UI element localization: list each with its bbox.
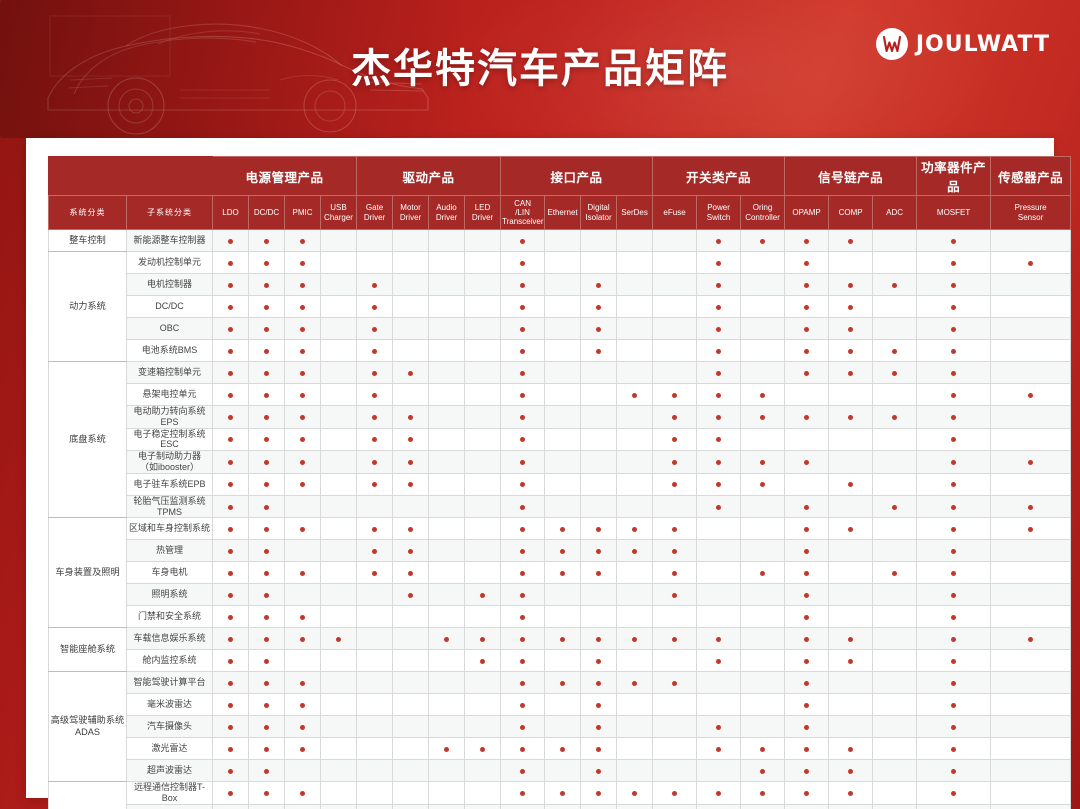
filled-red-dot-icon (300, 791, 305, 796)
matrix-cell-filled (697, 252, 741, 274)
table-row: 超声波雷达 (49, 760, 1071, 782)
filled-red-dot-icon (560, 637, 565, 642)
matrix-cell-empty (829, 562, 873, 584)
matrix-cell-empty (429, 540, 465, 562)
filled-red-dot-icon (228, 527, 233, 532)
matrix-cell-filled (829, 318, 873, 340)
matrix-cell-filled (741, 451, 785, 474)
filled-red-dot-icon (848, 482, 853, 487)
filled-red-dot-icon (300, 482, 305, 487)
matrix-cell-filled (285, 738, 321, 760)
filled-red-dot-icon (520, 349, 525, 354)
filled-red-dot-icon (1028, 460, 1033, 465)
matrix-cell-empty (991, 716, 1071, 738)
matrix-cell-filled (785, 584, 829, 606)
matrix-cell-empty (321, 650, 357, 672)
filled-red-dot-icon (264, 725, 269, 730)
matrix-cell-filled (785, 782, 829, 805)
filled-red-dot-icon (228, 681, 233, 686)
matrix-cell-filled (581, 274, 617, 296)
matrix-cell-filled (829, 406, 873, 429)
matrix-cell-filled (741, 782, 785, 805)
filled-red-dot-icon (951, 415, 956, 420)
filled-red-dot-icon (372, 437, 377, 442)
filled-red-dot-icon (672, 527, 677, 532)
matrix-cell-empty (617, 340, 653, 362)
matrix-cell-empty (873, 230, 917, 252)
matrix-cell-filled (285, 451, 321, 474)
matrix-cell-filled (545, 804, 581, 809)
matrix-cell-filled (249, 540, 285, 562)
matrix-cell-filled (285, 672, 321, 694)
matrix-cell-filled (249, 716, 285, 738)
matrix-cell-filled (285, 562, 321, 584)
filled-red-dot-icon (672, 415, 677, 420)
matrix-cell-empty (545, 606, 581, 628)
matrix-cell-empty (741, 340, 785, 362)
matrix-cell-filled (829, 362, 873, 384)
matrix-cell-filled (785, 296, 829, 318)
matrix-cell-filled (249, 451, 285, 474)
matrix-cell-filled (581, 672, 617, 694)
matrix-cell-empty (321, 473, 357, 495)
matrix-cell-empty (873, 296, 917, 318)
matrix-cell-filled (429, 738, 465, 760)
group-header-4: 开关类产品 (653, 157, 785, 196)
matrix-cell-filled (285, 782, 321, 805)
filled-red-dot-icon (716, 791, 721, 796)
filled-red-dot-icon (480, 593, 485, 598)
matrix-cell-filled (285, 252, 321, 274)
matrix-cell-filled (785, 518, 829, 540)
matrix-cell-empty (653, 804, 697, 809)
matrix-cell-filled (429, 628, 465, 650)
matrix-cell-empty (741, 318, 785, 340)
matrix-cell-empty (465, 606, 501, 628)
matrix-cell-empty (429, 804, 465, 809)
filled-red-dot-icon (264, 791, 269, 796)
table-row: 电子制动助力器（如ibooster） (49, 451, 1071, 474)
matrix-cell-empty (545, 274, 581, 296)
filled-red-dot-icon (300, 460, 305, 465)
matrix-cell-empty (429, 384, 465, 406)
filled-red-dot-icon (632, 393, 637, 398)
filled-red-dot-icon (300, 747, 305, 752)
column-header-6: MotorDriver (393, 196, 429, 230)
matrix-cell-empty (465, 760, 501, 782)
matrix-cell-filled (873, 406, 917, 429)
filled-red-dot-icon (408, 371, 413, 376)
matrix-cell-filled (697, 782, 741, 805)
matrix-cell-empty (429, 694, 465, 716)
matrix-cell-empty (321, 562, 357, 584)
filled-red-dot-icon (1028, 393, 1033, 398)
filled-red-dot-icon (716, 505, 721, 510)
matrix-cell-empty (465, 540, 501, 562)
matrix-cell-empty (741, 804, 785, 809)
matrix-cell-empty (653, 362, 697, 384)
matrix-cell-filled (285, 518, 321, 540)
matrix-cell-empty (653, 738, 697, 760)
filled-red-dot-icon (804, 305, 809, 310)
matrix-cell-empty (581, 428, 617, 451)
subsystem-cell: 网关控制器 (127, 804, 213, 809)
filled-red-dot-icon (760, 791, 765, 796)
matrix-cell-empty (321, 518, 357, 540)
matrix-cell-empty (873, 584, 917, 606)
filled-red-dot-icon (596, 659, 601, 664)
matrix-cell-filled (213, 318, 249, 340)
matrix-cell-empty (465, 318, 501, 340)
matrix-cell-empty (581, 451, 617, 474)
filled-red-dot-icon (560, 747, 565, 752)
matrix-cell-empty (545, 230, 581, 252)
matrix-cell-filled (653, 406, 697, 429)
subsystem-cell: 电池系统BMS (127, 340, 213, 362)
table-row: 电动助力转向系统EPS (49, 406, 1071, 429)
filled-red-dot-icon (520, 791, 525, 796)
matrix-cell-filled (545, 738, 581, 760)
matrix-cell-filled (785, 406, 829, 429)
matrix-cell-empty (741, 296, 785, 318)
matrix-cell-filled (501, 738, 545, 760)
matrix-cell-filled (213, 716, 249, 738)
matrix-cell-empty (829, 584, 873, 606)
filled-red-dot-icon (520, 527, 525, 532)
matrix-cell-filled (917, 451, 991, 474)
filled-red-dot-icon (596, 637, 601, 642)
filled-red-dot-icon (804, 659, 809, 664)
filled-red-dot-icon (596, 747, 601, 752)
filled-red-dot-icon (760, 460, 765, 465)
matrix-cell-empty (697, 540, 741, 562)
filled-red-dot-icon (300, 703, 305, 708)
filled-red-dot-icon (228, 769, 233, 774)
matrix-cell-filled (249, 650, 285, 672)
matrix-cell-filled (285, 628, 321, 650)
filled-red-dot-icon (264, 460, 269, 465)
filled-red-dot-icon (951, 747, 956, 752)
column-header-15: OringController (741, 196, 785, 230)
column-header-16: OPAMP (785, 196, 829, 230)
subsystem-cell: 电子驻车系统EPB (127, 473, 213, 495)
matrix-cell-empty (465, 230, 501, 252)
matrix-cell-filled (357, 296, 393, 318)
matrix-cell-empty (991, 318, 1071, 340)
subsystem-cell: 电子稳定控制系统ESC (127, 428, 213, 451)
matrix-cell-empty (991, 694, 1071, 716)
matrix-cell-filled (285, 274, 321, 296)
matrix-cell-filled (917, 518, 991, 540)
matrix-cell-filled (501, 451, 545, 474)
matrix-cell-empty (617, 296, 653, 318)
filled-red-dot-icon (760, 393, 765, 398)
filled-red-dot-icon (300, 283, 305, 288)
filled-red-dot-icon (372, 327, 377, 332)
matrix-cell-empty (393, 672, 429, 694)
filled-red-dot-icon (480, 747, 485, 752)
filled-red-dot-icon (951, 371, 956, 376)
matrix-cell-filled (829, 650, 873, 672)
system-category-cell: 底盘系统 (49, 362, 127, 518)
matrix-cell-empty (617, 760, 653, 782)
filled-red-dot-icon (760, 747, 765, 752)
matrix-cell-filled (501, 495, 545, 518)
table-row: 电池系统BMS (49, 340, 1071, 362)
matrix-cell-filled (213, 606, 249, 628)
matrix-cell-filled (785, 562, 829, 584)
matrix-cell-filled (917, 562, 991, 584)
matrix-cell-filled (653, 584, 697, 606)
matrix-cell-filled (991, 628, 1071, 650)
subsystem-cell: DC/DC (127, 296, 213, 318)
matrix-cell-empty (429, 562, 465, 584)
matrix-cell-empty (429, 473, 465, 495)
matrix-cell-filled (213, 628, 249, 650)
subsystem-cell: 毫米波雷达 (127, 694, 213, 716)
matrix-cell-filled (785, 650, 829, 672)
matrix-cell-empty (697, 518, 741, 540)
filled-red-dot-icon (264, 239, 269, 244)
matrix-cell-empty (991, 296, 1071, 318)
matrix-cell-filled (501, 473, 545, 495)
filled-red-dot-icon (596, 769, 601, 774)
matrix-cell-filled (785, 340, 829, 362)
matrix-cell-filled (249, 340, 285, 362)
filled-red-dot-icon (520, 371, 525, 376)
filled-red-dot-icon (228, 637, 233, 642)
matrix-cell-filled (357, 274, 393, 296)
subsystem-cell: 区域和车身控制系统 (127, 518, 213, 540)
filled-red-dot-icon (951, 305, 956, 310)
column-header-12: SerDes (617, 196, 653, 230)
matrix-cell-empty (785, 384, 829, 406)
matrix-cell-filled (785, 738, 829, 760)
matrix-cell-empty (653, 760, 697, 782)
matrix-cell-empty (465, 362, 501, 384)
matrix-cell-empty (991, 473, 1071, 495)
table-row: 智能互联系统远程通信控制器T-Box (49, 782, 1071, 805)
filled-red-dot-icon (716, 239, 721, 244)
filled-red-dot-icon (804, 261, 809, 266)
filled-red-dot-icon (520, 305, 525, 310)
column-header-19: MOSFET (917, 196, 991, 230)
matrix-cell-empty (393, 384, 429, 406)
filled-red-dot-icon (480, 637, 485, 642)
matrix-cell-empty (545, 340, 581, 362)
matrix-cell-empty (829, 428, 873, 451)
matrix-cell-empty (465, 406, 501, 429)
matrix-cell-filled (249, 473, 285, 495)
matrix-cell-empty (697, 562, 741, 584)
matrix-cell-empty (653, 716, 697, 738)
filled-red-dot-icon (228, 791, 233, 796)
matrix-cell-empty (321, 540, 357, 562)
matrix-cell-filled (285, 296, 321, 318)
matrix-cell-empty (545, 296, 581, 318)
matrix-cell-empty (429, 760, 465, 782)
matrix-cell-filled (501, 518, 545, 540)
matrix-cell-empty (741, 428, 785, 451)
filled-red-dot-icon (520, 393, 525, 398)
filled-red-dot-icon (480, 659, 485, 664)
matrix-cell-filled (829, 628, 873, 650)
matrix-cell-empty (465, 296, 501, 318)
matrix-cell-filled (785, 230, 829, 252)
matrix-cell-empty (393, 340, 429, 362)
matrix-cell-filled (249, 384, 285, 406)
filled-red-dot-icon (672, 593, 677, 598)
filled-red-dot-icon (264, 571, 269, 576)
matrix-cell-empty (321, 428, 357, 451)
matrix-cell-empty (697, 694, 741, 716)
matrix-cell-empty (741, 606, 785, 628)
matrix-cell-filled (581, 562, 617, 584)
matrix-cell-empty (429, 340, 465, 362)
matrix-cell-filled (785, 760, 829, 782)
filled-red-dot-icon (804, 415, 809, 420)
matrix-cell-filled (357, 473, 393, 495)
matrix-cell-filled (249, 296, 285, 318)
content-sheet: 电源管理产品驱动产品接口产品开关类产品信号链产品功率器件产品传感器产品 系统分类… (26, 138, 1054, 798)
matrix-cell-filled (697, 495, 741, 518)
matrix-cell-filled (697, 628, 741, 650)
filled-red-dot-icon (951, 593, 956, 598)
table-row: 智能座舱系统车载信息娱乐系统 (49, 628, 1071, 650)
matrix-cell-empty (357, 738, 393, 760)
filled-red-dot-icon (300, 571, 305, 576)
group-header-2: 驱动产品 (357, 157, 501, 196)
matrix-cell-filled (501, 362, 545, 384)
filled-red-dot-icon (951, 283, 956, 288)
filled-red-dot-icon (760, 571, 765, 576)
matrix-cell-empty (617, 451, 653, 474)
matrix-cell-empty (465, 340, 501, 362)
filled-red-dot-icon (951, 437, 956, 442)
filled-red-dot-icon (520, 437, 525, 442)
filled-red-dot-icon (264, 505, 269, 510)
group-header-7: 传感器产品 (991, 157, 1071, 196)
matrix-cell-filled (285, 384, 321, 406)
matrix-cell-empty (991, 760, 1071, 782)
matrix-cell-filled (501, 384, 545, 406)
filled-red-dot-icon (228, 571, 233, 576)
filled-red-dot-icon (372, 549, 377, 554)
subsystem-cell: 汽车摄像头 (127, 716, 213, 738)
matrix-cell-empty (741, 540, 785, 562)
matrix-cell-empty (581, 252, 617, 274)
matrix-cell-empty (581, 495, 617, 518)
matrix-cell-empty (991, 606, 1071, 628)
matrix-cell-empty (321, 274, 357, 296)
filled-red-dot-icon (1028, 261, 1033, 266)
matrix-cell-filled (285, 716, 321, 738)
matrix-cell-filled (653, 672, 697, 694)
filled-red-dot-icon (264, 327, 269, 332)
matrix-cell-empty (545, 760, 581, 782)
matrix-cell-empty (617, 230, 653, 252)
matrix-cell-filled (285, 340, 321, 362)
matrix-cell-filled (249, 760, 285, 782)
matrix-cell-empty (285, 584, 321, 606)
matrix-cell-empty (285, 495, 321, 518)
matrix-cell-empty (653, 230, 697, 252)
matrix-cell-empty (873, 760, 917, 782)
matrix-cell-filled (501, 804, 545, 809)
matrix-cell-empty (545, 650, 581, 672)
matrix-cell-filled (617, 782, 653, 805)
matrix-cell-empty (357, 252, 393, 274)
matrix-cell-empty (321, 495, 357, 518)
matrix-cell-empty (653, 606, 697, 628)
matrix-cell-filled (917, 540, 991, 562)
filled-red-dot-icon (264, 637, 269, 642)
matrix-cell-empty (873, 650, 917, 672)
table-row: 网关控制器 (49, 804, 1071, 809)
matrix-cell-filled (697, 473, 741, 495)
filled-red-dot-icon (951, 681, 956, 686)
matrix-cell-filled (653, 628, 697, 650)
matrix-cell-filled (873, 362, 917, 384)
filled-red-dot-icon (520, 239, 525, 244)
matrix-cell-filled (917, 495, 991, 518)
matrix-cell-empty (873, 694, 917, 716)
subsystem-cell: 激光雷达 (127, 738, 213, 760)
matrix-cell-filled (917, 318, 991, 340)
filled-red-dot-icon (951, 637, 956, 642)
matrix-cell-filled (697, 384, 741, 406)
column-header-13: eFuse (653, 196, 697, 230)
matrix-cell-empty (393, 738, 429, 760)
filled-red-dot-icon (228, 725, 233, 730)
matrix-cell-filled (501, 584, 545, 606)
matrix-cell-filled (213, 451, 249, 474)
table-row: 动力系统发动机控制单元 (49, 252, 1071, 274)
column-header-17: COMP (829, 196, 873, 230)
matrix-cell-empty (991, 562, 1071, 584)
header-corner-blank (49, 157, 213, 196)
matrix-cell-empty (741, 628, 785, 650)
matrix-cell-empty (429, 362, 465, 384)
matrix-cell-filled (501, 782, 545, 805)
matrix-cell-filled (917, 428, 991, 451)
matrix-cell-filled (581, 694, 617, 716)
table-row: 照明系统 (49, 584, 1071, 606)
column-header-row: 系统分类子系统分类LDODC/DCPMICUSBChargerGateDrive… (49, 196, 1071, 230)
filled-red-dot-icon (804, 681, 809, 686)
filled-red-dot-icon (372, 349, 377, 354)
group-header-6: 功率器件产品 (917, 157, 991, 196)
table-row: 激光雷达 (49, 738, 1071, 760)
matrix-cell-empty (321, 606, 357, 628)
filled-red-dot-icon (228, 703, 233, 708)
matrix-cell-empty (393, 230, 429, 252)
filled-red-dot-icon (804, 637, 809, 642)
filled-red-dot-icon (228, 349, 233, 354)
brand-name: JOULWATT (916, 32, 1050, 57)
matrix-cell-filled (285, 318, 321, 340)
filled-red-dot-icon (760, 415, 765, 420)
filled-red-dot-icon (560, 549, 565, 554)
matrix-cell-empty (285, 650, 321, 672)
filled-red-dot-icon (951, 527, 956, 532)
filled-red-dot-icon (264, 261, 269, 266)
matrix-cell-filled (617, 540, 653, 562)
filled-red-dot-icon (264, 349, 269, 354)
filled-red-dot-icon (520, 549, 525, 554)
matrix-cell-empty (429, 451, 465, 474)
matrix-cell-filled (917, 804, 991, 809)
